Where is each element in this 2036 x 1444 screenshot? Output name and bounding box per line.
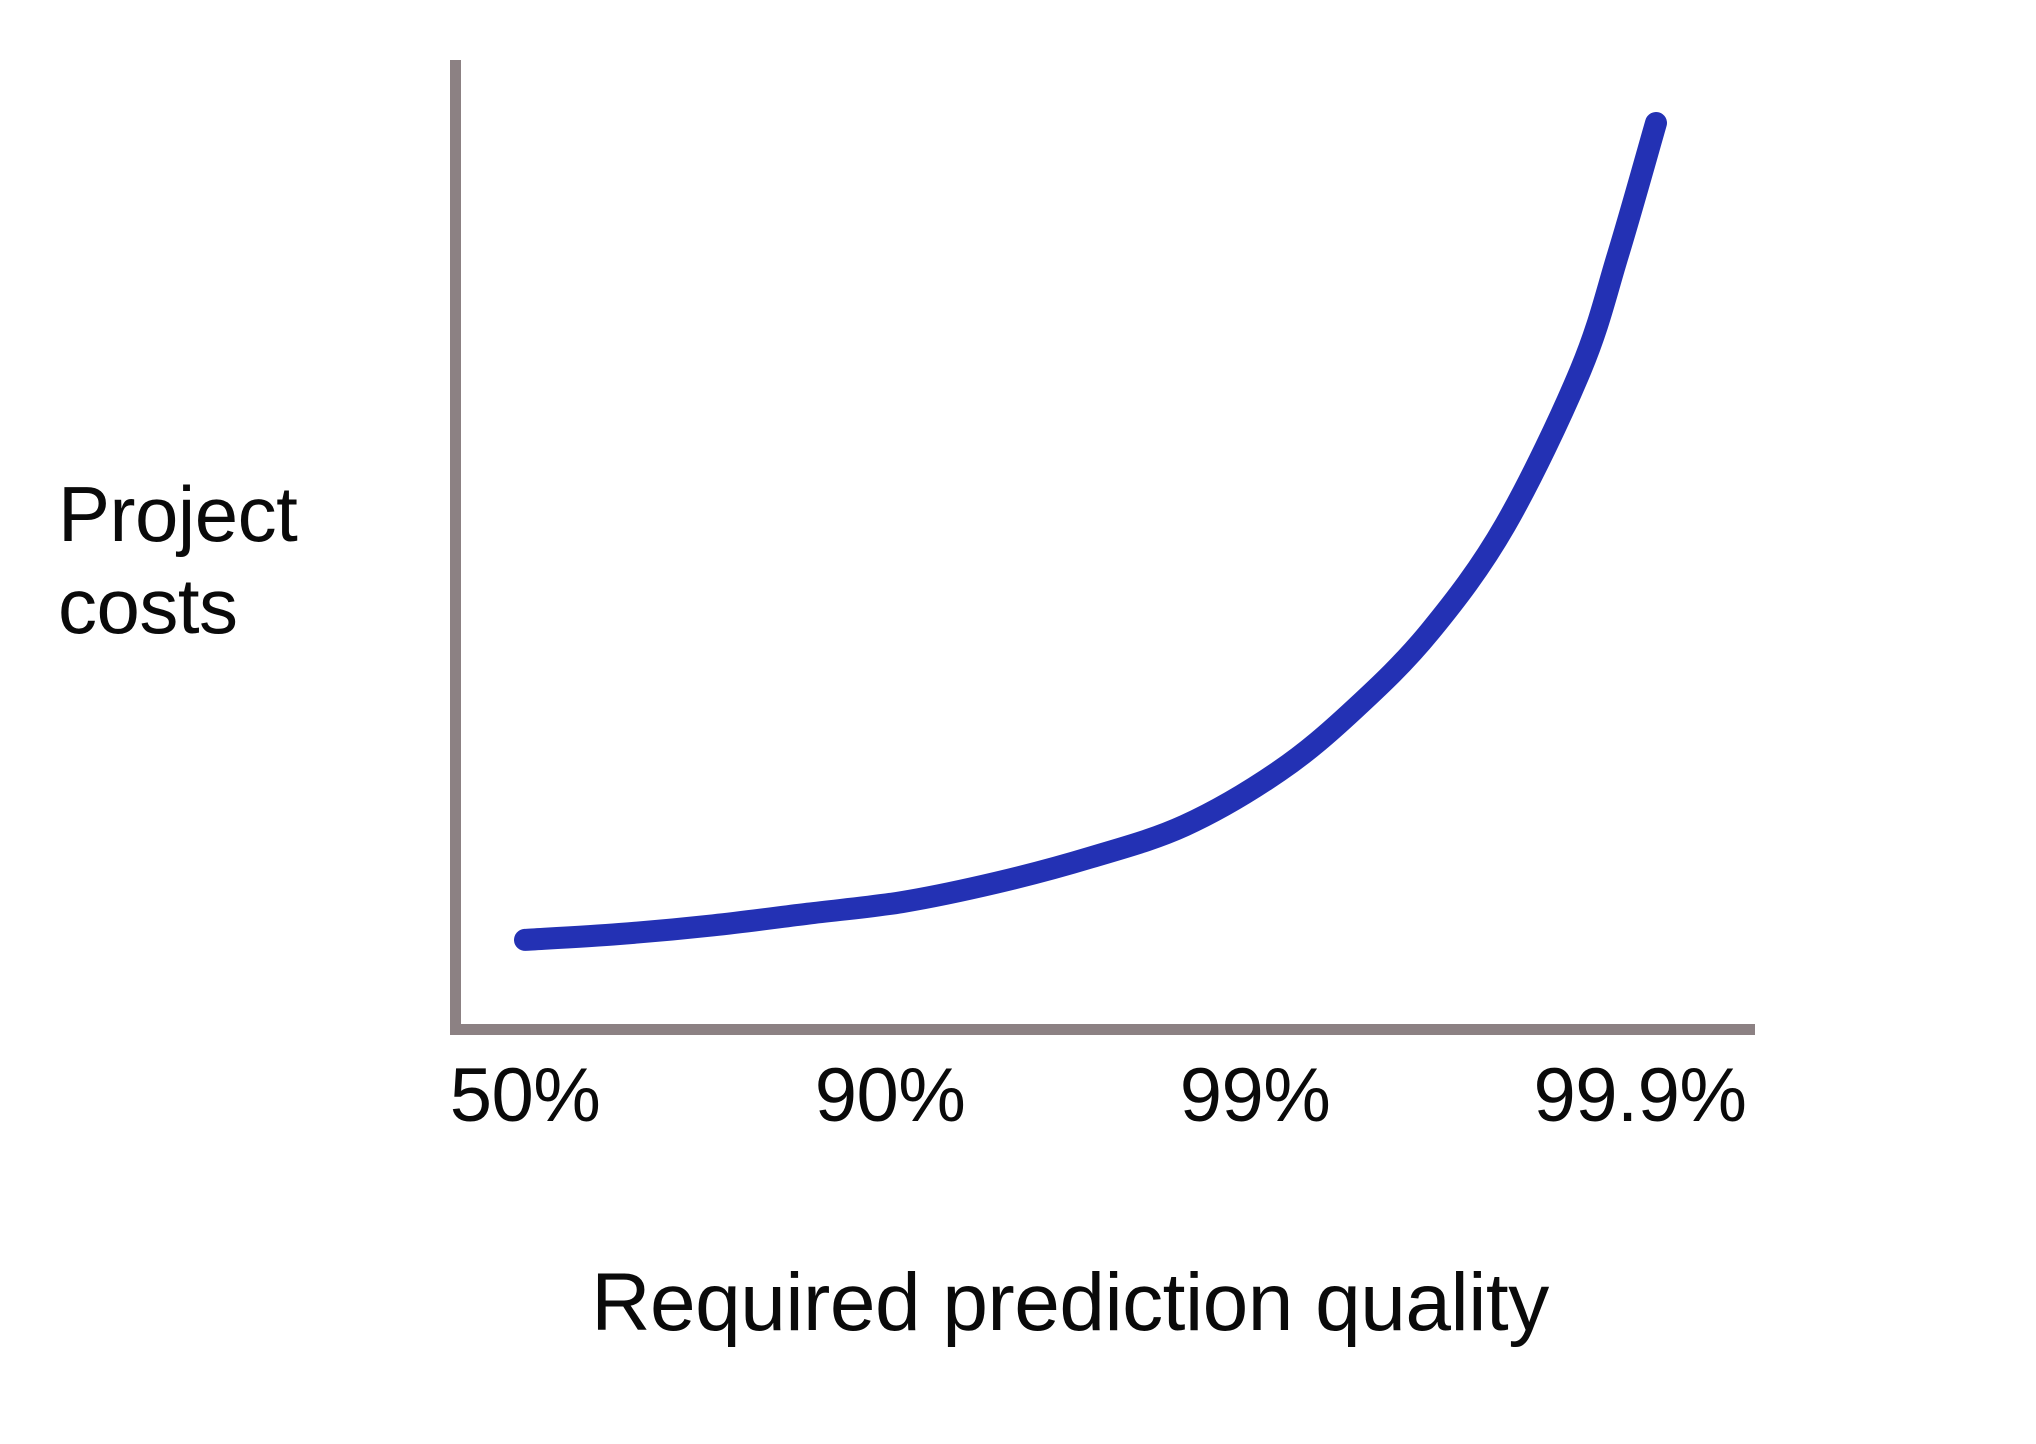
x-axis-title: Required prediction quality [0,1262,2036,1344]
x-axis-title-text: Required prediction quality [591,1262,1548,1344]
y-axis-label: Project costs [58,468,428,652]
chart-plot-area [0,0,2036,1444]
x-tick-label-99: 99% [1180,1058,1331,1134]
x-tick-label-90: 90% [815,1058,966,1134]
x-tick-label-99-9: 99.9% [1534,1058,1747,1134]
chart-figure: Project costs 50% 90% 99% 99.9% Required… [0,0,2036,1444]
x-tick-label-50: 50% [450,1058,601,1134]
cost-curve-line [525,123,1656,940]
